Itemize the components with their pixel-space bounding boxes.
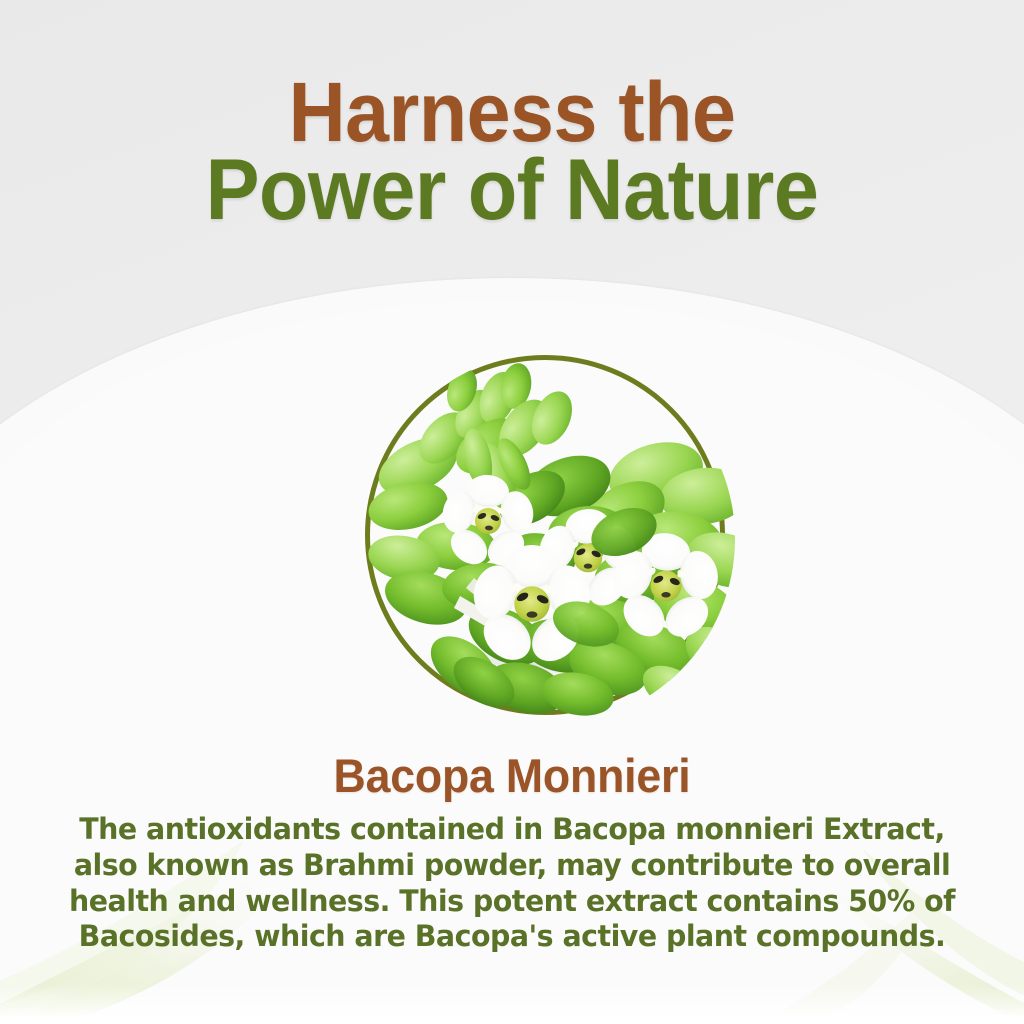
bottom-fade-overlay <box>0 984 1024 1024</box>
plant-title: Bacopa Monnieri <box>26 748 999 803</box>
plant-description: The antioxidants contained in Bacopa mon… <box>68 812 956 955</box>
product-info-card: Harness the Power of Nature <box>0 0 1024 1024</box>
headline-line-2: Power of Nature <box>31 151 994 230</box>
headline: Harness the Power of Nature <box>0 74 1024 230</box>
headline-line-1: Harness the <box>31 74 994 151</box>
bacopa-plant-illustration <box>356 346 742 732</box>
hero-plant-figure <box>356 346 742 732</box>
